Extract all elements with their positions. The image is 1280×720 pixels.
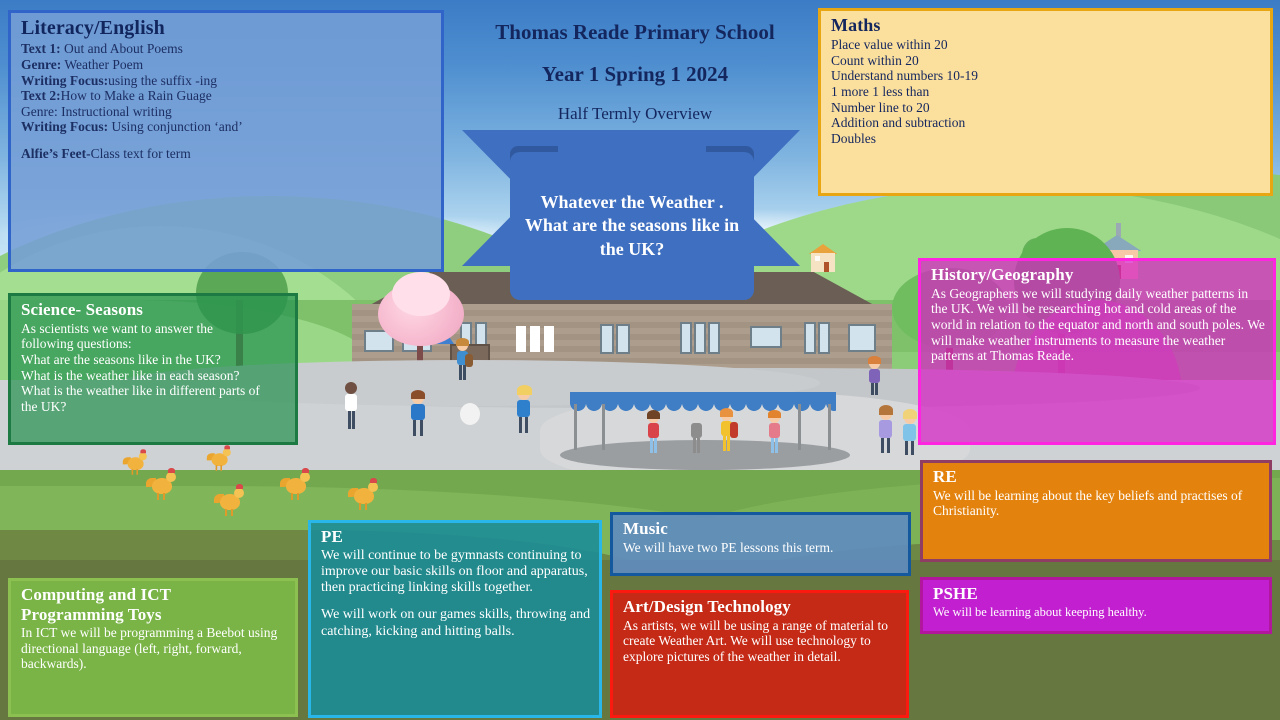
- card-title-art: Art/Design Technology: [623, 597, 898, 617]
- house-far: [806, 244, 840, 272]
- maths-item: Count within 20: [831, 53, 1262, 69]
- child-walking-2: [900, 412, 920, 456]
- literacy-class-text: Alfie’s Feet-Class text for term: [21, 146, 433, 162]
- chicken-1: [146, 470, 180, 504]
- card-re: RE We will be learning about the key bel…: [920, 460, 1272, 562]
- card-computing-ict: Computing and ICT Programming Toys In IC…: [8, 578, 298, 717]
- literacy-genre1: Genre: Weather Poem: [21, 57, 433, 73]
- playground-ball: [460, 403, 480, 425]
- child-playing-2: [408, 392, 432, 434]
- card-history-geography: History/Geography As Geographers we will…: [918, 258, 1276, 445]
- card-art-design-technology: Art/Design Technology As artists, we wil…: [610, 590, 909, 718]
- chicken-4: [348, 480, 382, 514]
- science-line: the UK?: [21, 399, 287, 415]
- card-title-computing-line2: Programming Toys: [21, 605, 287, 624]
- art-body: As artists, we will be using a range of …: [623, 618, 898, 665]
- science-line: What is the weather like in each season?: [21, 368, 287, 384]
- blossom-tree-crown-top: [392, 272, 450, 316]
- science-line: following questions:: [21, 336, 287, 352]
- science-line: What are the seasons like in the UK?: [21, 352, 287, 368]
- child-canopy-2: [688, 412, 704, 454]
- card-title-literacy: Literacy/English: [21, 17, 433, 40]
- literacy-text1: Text 1: Out and About Poems: [21, 41, 433, 57]
- card-title-history-geography: History/Geography: [931, 265, 1265, 285]
- histgeo-body: As Geographers we will studying daily we…: [931, 286, 1265, 364]
- literacy-text2: Text 2:How to Make a Rain Guage: [21, 88, 433, 104]
- card-title-science: Science- Seasons: [21, 300, 287, 320]
- card-title-pshe: PSHE: [933, 584, 1261, 604]
- topic-text: Whatever the Weather .What are the seaso…: [520, 191, 744, 260]
- maths-item: Doubles: [831, 131, 1262, 147]
- chicken-2: [214, 486, 248, 520]
- card-music: Music We will have two PE lessons this t…: [610, 512, 911, 576]
- overview-subtitle: Half Termly Overview: [455, 103, 815, 126]
- computing-body: In ICT we will be programming a Beebot u…: [21, 625, 287, 672]
- card-pshe: PSHE We will be learning about keeping h…: [920, 577, 1272, 634]
- card-maths: Maths Place value within 20 Count within…: [818, 8, 1273, 196]
- literacy-focus1: Writing Focus:using the suffix -ing: [21, 73, 433, 89]
- card-title-computing-line1: Computing and ICT: [21, 585, 287, 604]
- pshe-body: We will be learning about keeping health…: [933, 605, 1261, 620]
- maths-item: Understand numbers 10-19: [831, 68, 1262, 84]
- child-canopy-1: [645, 412, 661, 454]
- pe-para-1: We will continue to be gymnasts continui…: [321, 548, 591, 597]
- card-literacy-english: Literacy/English Text 1: Out and About P…: [8, 10, 444, 272]
- literacy-genre2: Genre: Instructional writing: [21, 104, 433, 120]
- child-playing-1: [342, 382, 360, 430]
- card-title-pe: PE: [321, 527, 591, 547]
- chicken-6: [207, 447, 229, 469]
- child-canopy-4: [766, 412, 782, 454]
- child-walking-1: [876, 408, 896, 454]
- card-title-re: RE: [933, 467, 1261, 487]
- maths-item: Place value within 20: [831, 37, 1262, 53]
- topic-banner: Whatever the Weather .What are the seaso…: [510, 152, 754, 300]
- poster-title-block: Thomas Reade Primary School Year 1 Sprin…: [455, 18, 815, 126]
- child-playing-3: [514, 388, 536, 434]
- card-title-music: Music: [623, 519, 900, 539]
- music-body: We will have two PE lessons this term.: [623, 540, 900, 556]
- maths-item: 1 more 1 less than: [831, 84, 1262, 100]
- card-science: Science- Seasons As scientists we want t…: [8, 293, 298, 445]
- school-name: Thomas Reade Primary School: [455, 18, 815, 46]
- chicken-3: [280, 470, 314, 504]
- maths-item: Addition and subtraction: [831, 115, 1262, 131]
- card-title-maths: Maths: [831, 15, 1262, 36]
- child-standing-right: [866, 358, 884, 396]
- pe-para-2: We will work on our games skills, throwi…: [321, 607, 591, 639]
- poster-canvas: Thomas Reade Primary School Year 1 Sprin…: [0, 0, 1280, 720]
- re-body: We will be learning about the key belief…: [933, 488, 1261, 519]
- child-canopy-3: [718, 410, 736, 454]
- science-line: As scientists we want to answer the: [21, 321, 287, 337]
- child-with-bag: [454, 340, 472, 382]
- maths-item: Number line to 20: [831, 100, 1262, 116]
- chicken-5: [123, 451, 145, 473]
- science-line: What is the weather like in different pa…: [21, 383, 287, 399]
- year-term: Year 1 Spring 1 2024: [455, 60, 815, 88]
- literacy-focus2: Writing Focus: Using conjunction ‘and’: [21, 119, 433, 135]
- card-pe: PE We will continue to be gymnasts conti…: [308, 520, 602, 718]
